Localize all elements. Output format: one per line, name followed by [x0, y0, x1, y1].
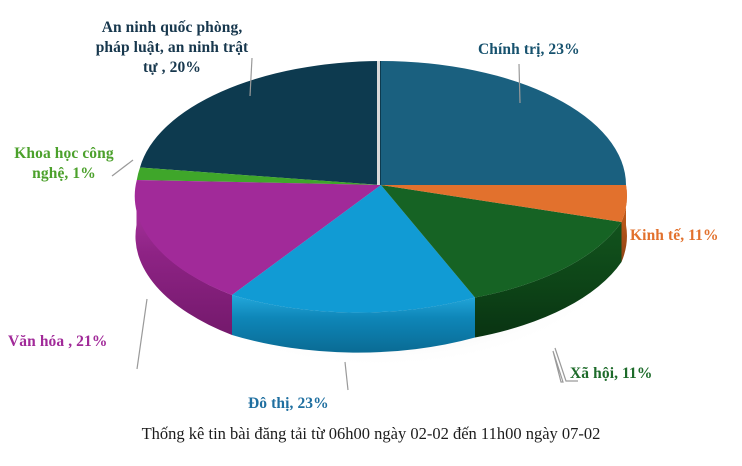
slice-label-culture: Văn hóa , 21% — [8, 332, 138, 352]
pie-chart-page: An ninh quốc phòng, pháp luật, an ninh t… — [0, 0, 742, 466]
slice-label-security: An ninh quốc phòng, pháp luật, an ninh t… — [62, 18, 282, 77]
slice-label-economy: Kinh tế, 11% — [630, 226, 742, 246]
leader-line-culture — [137, 299, 147, 369]
slice-politics[interactable] — [381, 61, 626, 185]
chart-caption: Thống kê tin bài đăng tải từ 06h00 ngày … — [0, 424, 742, 444]
slice-security[interactable] — [140, 61, 381, 185]
slice-label-urban: Đô thị, 23% — [248, 394, 388, 414]
slice-label-politics: Chính trị, 23% — [478, 40, 648, 60]
slice-label-social: Xã hội, 11% — [570, 364, 720, 384]
slice-label-science: Khoa học công nghệ, 1% — [0, 144, 128, 184]
